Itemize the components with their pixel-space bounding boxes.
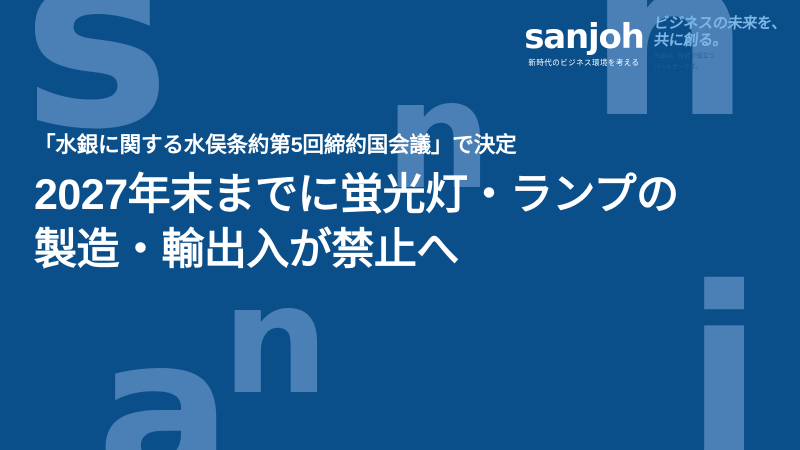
brand-logo[interactable]: sanjoh 新時代のビジネス環境を考える ビジネスの未来を、 共に創る。 三城… — [524, 14, 786, 73]
eyebrow-text: 「水銀に関する水俣条約第5回締約国会議」で決定 — [34, 132, 774, 159]
logo-lockup: sanjoh 新時代のビジネス環境を考える — [524, 14, 643, 67]
brand-tagline: ビジネスの未来を、 共に創る。 三城は、身近で役立つ パートナーです。 — [654, 14, 786, 73]
decorative-letter-j-icon: j — [685, 278, 759, 450]
tagline-line-1: ビジネスの未来を、 — [653, 16, 787, 33]
slide-canvas: s h n n a j sanjoh 新時代のビジネス環境を考える ビジネスの未… — [0, 0, 800, 450]
decorative-letter-n-lower-icon: n — [222, 280, 326, 403]
logo-subtitle: 新時代のビジネス環境を考える — [528, 59, 639, 67]
page-title: 2027年末までに蛍光灯・ランプの 製造・輸出入が禁止へ — [34, 168, 774, 278]
headline-line-1: 2027年末までに蛍光灯・ランプの — [34, 168, 774, 223]
logo-wordmark: sanjoh — [524, 20, 643, 54]
decorative-letter-s-icon: s — [22, 0, 166, 141]
headline-line-2: 製造・輸出入が禁止へ — [34, 223, 774, 278]
headline-block: 「水銀に関する水俣条約第5回締約国会議」で決定 2027年末までに蛍光灯・ランプ… — [34, 132, 774, 278]
tagline-line-2: 共に創る。 — [653, 33, 787, 50]
tagline-small-line-2: パートナーです。 — [654, 65, 786, 73]
decorative-letter-a-icon: a — [97, 330, 228, 450]
tagline-small-line-1: 三城は、身近で役立つ — [654, 54, 786, 62]
